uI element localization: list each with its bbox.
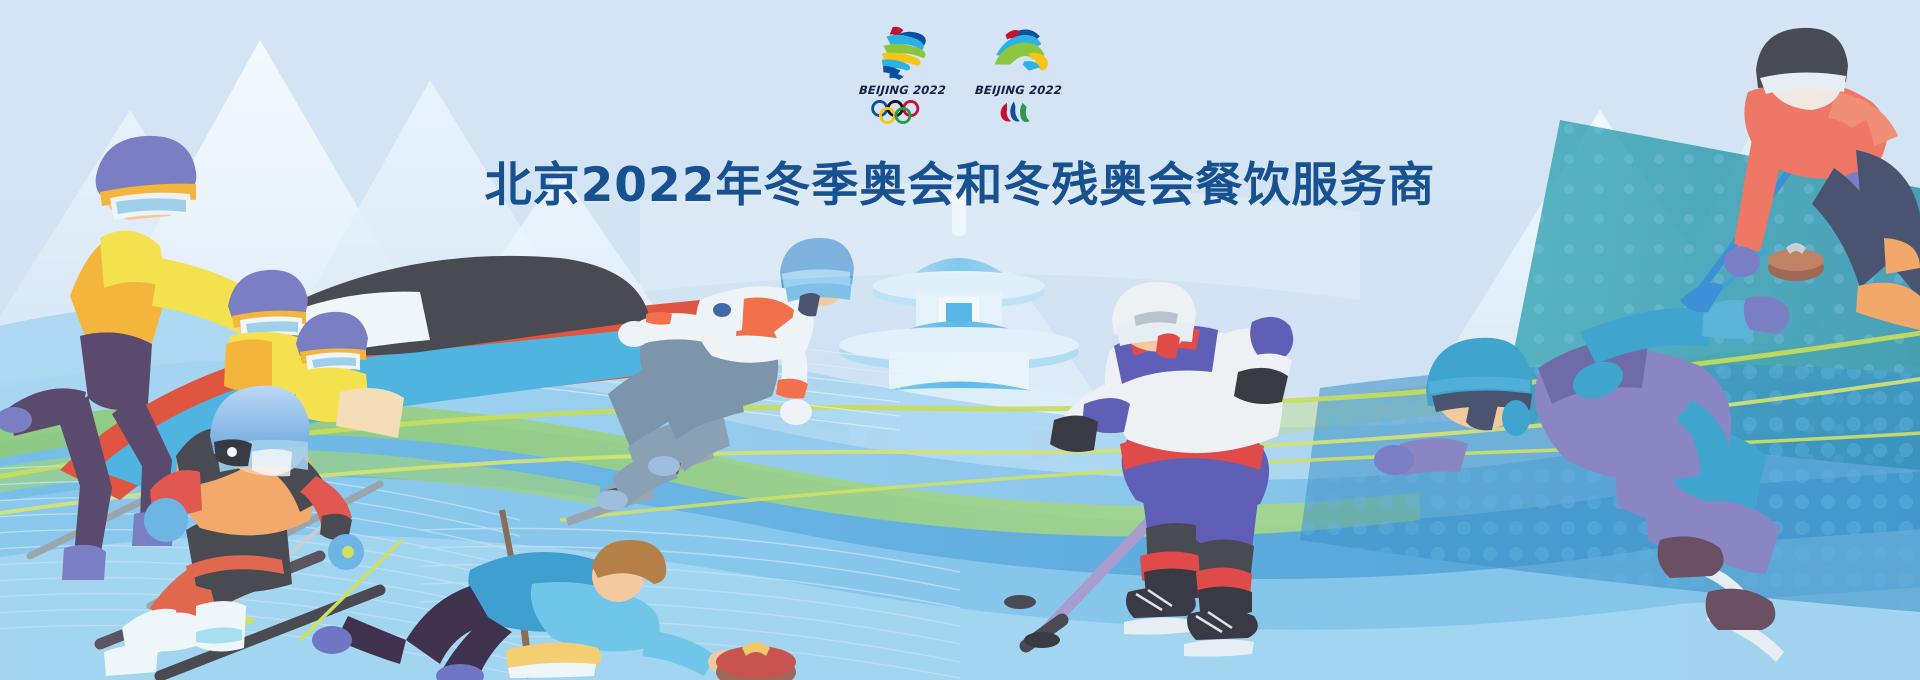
olympic-wordmark: BEIJING 2022 (858, 83, 946, 97)
beijing-2022-olympic-emblem[interactable]: BEIJING 2022 (856, 24, 948, 124)
paralympic-agitos-icon (983, 100, 1054, 124)
flying-high-emblem-icon (979, 24, 1057, 80)
winter-dream-emblem-icon (863, 24, 941, 80)
olympics-catering-banner: BEIJING 2022 (0, 0, 1920, 680)
olympic-rings-icon (867, 100, 938, 124)
paralympic-wordmark: BEIJING 2022 (974, 83, 1062, 97)
page-title: 北京2022年冬季奥会和冬残奥会餐饮服务商 (485, 146, 1436, 215)
beijing-2022-paralympic-emblem[interactable]: BEIJING 2022 (972, 24, 1064, 124)
emblem-row: BEIJING 2022 (856, 24, 1064, 124)
